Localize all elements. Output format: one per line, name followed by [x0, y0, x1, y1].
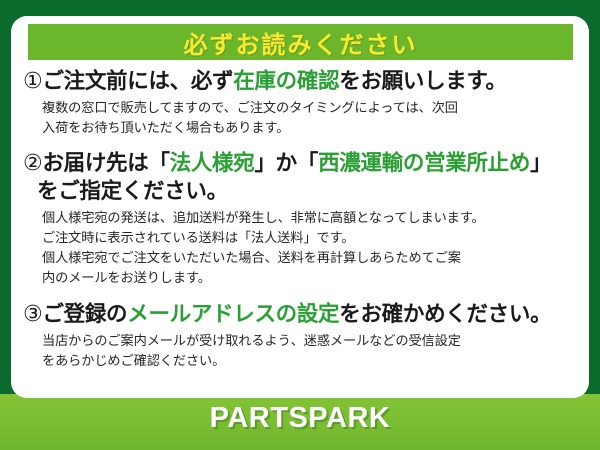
notice-item-2: ②お届け先は「法人様宛」か「西濃運輸の営業所止め」 をご指定ください。 個人様宅… — [11, 150, 589, 289]
notice-item-1-heading: ①ご注文前には、必ず在庫の確認をお願いします。 — [23, 68, 579, 96]
notice-item-2-body-line-1: 個人様宅宛の発送は、追加送料が発生し、非常に高額となってしまいます。 — [42, 209, 579, 229]
notice-item-2-close-bracket-2: 」 — [530, 151, 551, 176]
notice-item-2-heading-seg1: お届け先は — [42, 151, 148, 176]
notice-item-1-heading-seg2: をお願いします。 — [339, 69, 506, 94]
notice-item-1-heading-highlight: 在庫の確認 — [233, 69, 339, 94]
notice-item-2-heading-highlight-2: 西濃運輸の営業所止め — [318, 151, 530, 176]
notice-item-2-body-line-2: ご注文時に表示されている送料は「法人送料」です。 — [42, 229, 579, 249]
notice-item-2-heading-line2: をご指定ください。 — [23, 178, 579, 206]
notice-list: ①ご注文前には、必ず在庫の確認をお願いします。 複数の窓口で販売してますので、ご… — [11, 66, 589, 372]
notice-item-3-body: 当店からのご案内メールが受け取れるよう、迷惑メールなどの受信設定 をあらかじめご… — [23, 332, 579, 372]
notice-card: 必ずお読みください ①ご注文前には、必ず在庫の確認をお願いします。 複数の窓口で… — [11, 16, 589, 398]
notice-item-3-heading-seg2: をお確かめください。 — [339, 302, 551, 327]
notice-item-1-number: ① — [23, 69, 42, 94]
notice-header-title: 必ずお読みください — [184, 25, 418, 60]
notice-item-2-heading-seg2: か — [276, 151, 297, 176]
notice-item-2-heading: ②お届け先は「法人様宛」か「西濃運輸の営業所止め」 — [23, 150, 579, 178]
brand-footer: PARTSPARK — [0, 394, 600, 450]
brand-wordmark: PARTSPARK — [0, 402, 600, 435]
notice-item-3-body-line-1: 当店からのご案内メールが受け取れるよう、迷惑メールなどの受信設定 — [42, 332, 579, 352]
notice-item-3-number: ③ — [23, 302, 42, 327]
notice-item-2-body: 個人様宅宛の発送は、追加送料が発生し、非常に高額となってしまいます。 ご注文時に… — [23, 209, 579, 289]
notice-item-1-body-line-2: 入荷をお待ち頂いただく場合もあります。 — [42, 119, 579, 139]
notice-item-2-close-bracket-1: 」 — [254, 151, 275, 176]
notice-item-3-body-line-2: をあらかじめご確認ください。 — [42, 352, 579, 372]
notice-item-2-number: ② — [23, 151, 42, 176]
notice-item-2-body-line-4: 内のメールをお送りします。 — [42, 269, 579, 289]
notice-item-3-heading-seg1: ご登録の — [42, 302, 127, 327]
notice-item-2-heading-highlight-1: 法人様宛 — [170, 151, 255, 176]
notice-item-1-body: 複数の窓口で販売してますので、ご注文のタイミングによっては、次回 入荷をお待ち頂… — [23, 99, 579, 139]
notice-item-1-body-line-1: 複数の窓口で販売してますので、ご注文のタイミングによっては、次回 — [42, 99, 579, 119]
notice-item-3-heading: ③ご登録のメールアドレスの設定をお確かめください。 — [23, 301, 579, 329]
notice-item-2-body-line-3: 個人様宅宛でご注文をいただいた場合、送料を再計算しあらためてご案 — [42, 249, 579, 269]
notice-item-2-open-bracket-2: 「 — [297, 151, 318, 176]
notice-item-2-open-bracket-1: 「 — [148, 151, 169, 176]
notice-item-1-heading-seg1: ご注文前には、必ず — [42, 69, 233, 94]
notice-banner: PARTSPARK 必ずお読みください ①ご注文前には、必ず在庫の確認をお願いし… — [0, 0, 600, 450]
notice-item-3-heading-highlight: メールアドレスの設定 — [127, 302, 339, 327]
notice-header-band: 必ずお読みください — [28, 24, 573, 60]
notice-item-3: ③ご登録のメールアドレスの設定をお確かめください。 当店からのご案内メールが受け… — [11, 301, 589, 372]
notice-item-1: ①ご注文前には、必ず在庫の確認をお願いします。 複数の窓口で販売してますので、ご… — [11, 68, 589, 139]
